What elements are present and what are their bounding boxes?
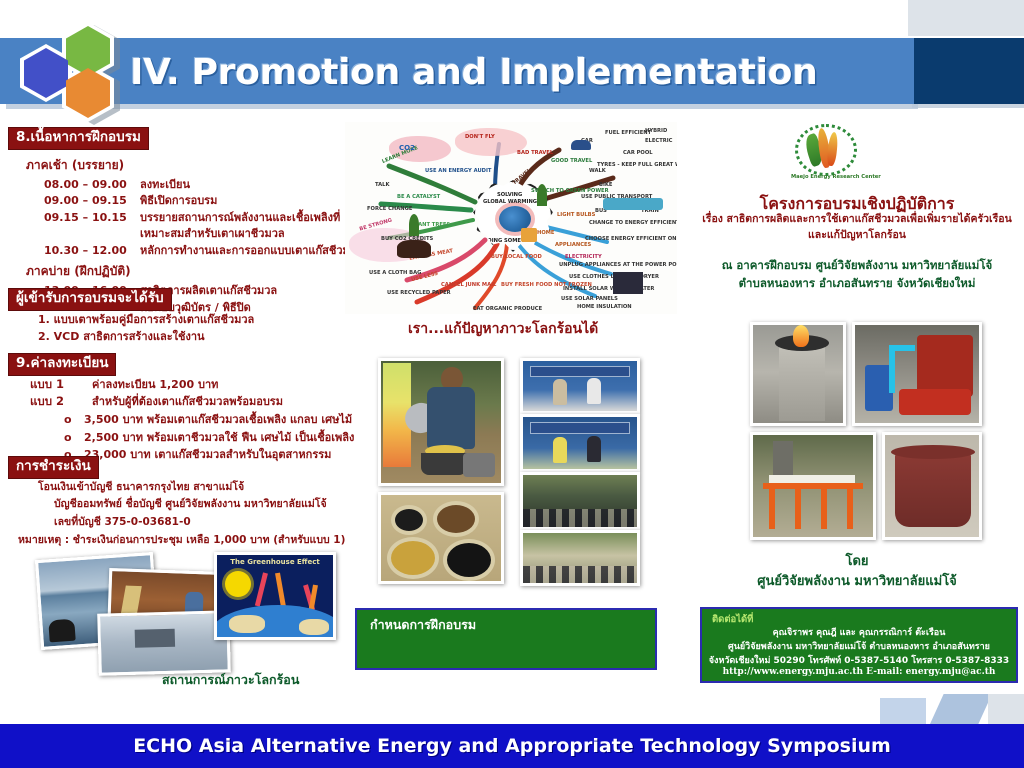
training-photo-grid (372, 356, 682, 588)
person-shirt (427, 387, 475, 449)
second-stove (463, 453, 495, 477)
fee-label: แบบ 2 (30, 393, 92, 411)
mindmap-label-hybrid: HYBRID (645, 128, 667, 134)
mindmap-branch-label: HOME (537, 230, 554, 236)
credit-by-label: โดย (690, 552, 1024, 572)
house-icon (521, 228, 537, 242)
mindmap-label-organic: EAT ORGANIC PRODUCE (473, 306, 542, 312)
mindmap-label-electric: ELECTRIC (645, 138, 672, 144)
project-subtitle-line1: เรื่อง สาธิตการผลิตและการใช้เตาแก๊สชีวมว… (690, 212, 1024, 228)
mindmap-label-electricity: ELECTRICITY (565, 254, 602, 260)
mindmap-label-talk: TALK (375, 182, 389, 188)
project-subtitle: เรื่อง สาธิตการผลิตและการใช้เตาแก๊สชีวมว… (690, 212, 1024, 244)
project-subtitle-line2: และแก้ปัญหาโลกร้อน (690, 228, 1024, 244)
receive-item: 1. แบบเตาพร้อมคู่มือการสร้างเตาแก๊สชีวมว… (38, 311, 338, 329)
mindmap-label-cloth-bag: USE A CLOTH BAG (369, 270, 421, 276)
fee-label: แบบ 1 (30, 376, 92, 394)
collage-caption: สถานการณ์ภาวะโลกร้อน (162, 670, 299, 690)
mindmap-label-light-bulbs: LIGHT BULBS (557, 212, 595, 218)
mindmap-label-buy-local: BUY LOCAL FOOD (491, 254, 542, 260)
mindmap-label-junk-mail: CANCEL JUNK MAIL (441, 282, 496, 288)
photo-workshop-demo (520, 530, 640, 586)
mindmap-center-text: SOLVING (497, 192, 522, 198)
mindmap-label-appliances: APPLIANCES (555, 242, 591, 248)
schedule-time: 08.00 – 09.00 (44, 177, 140, 194)
top-right-navy-block (912, 38, 1024, 104)
mindmap-label-choose-efficient: CHOOSE ENERGY EFFICIENT ONES (585, 236, 677, 242)
photo-biomass-gasifier-stove (750, 322, 846, 426)
schedule-row: 09.15 – 10.15 บรรยายสถานการณ์พลังงานและเ… (44, 210, 338, 243)
mindmap-label-badtravel: BAD TRAVEL (517, 150, 553, 156)
section-8-heading: 8.เนื้อหาการฝึกอบรม (8, 127, 149, 150)
schedule-desc: ลงทะเบียน (140, 177, 190, 194)
schedule-time: 09.00 – 09.15 (44, 193, 140, 210)
mindmap-label-co2: CO2 (399, 144, 415, 152)
global-warming-mindmap-image: SOLVING GLOBAL WARMING DOING SOMETHING L… (345, 122, 677, 314)
car-icon (571, 140, 591, 150)
mindmap-caption: เรา...แก้ปัญหาภาวะโลกร้อนได้ (408, 318, 598, 340)
schedule-desc: พิธีเปิดการอบรม (140, 193, 217, 210)
photo-ceremony-1 (520, 358, 640, 414)
photo-orange-stove-table (750, 432, 876, 540)
payment-line: บัญชีออมทรัพย์ ชื่อบัญชี ศูนย์วิจัยพลังง… (54, 496, 344, 514)
solar-panel-icon (613, 272, 643, 294)
red-engine (899, 389, 971, 415)
radiation-arrow-icon (275, 573, 286, 607)
sun-icon (225, 571, 251, 597)
credit-organization: ศูนย์วิจัยพลังงาน มหาวิทยาลัยแม่โจ้ (690, 572, 1024, 592)
schedule-afternoon-label: ภาคบ่าย (ฝึกปฏิบัติ) (26, 262, 338, 281)
radiation-arrow-icon (255, 572, 268, 606)
logo-caption: Maejo Energy Research Center (791, 174, 863, 180)
cow-icon (397, 240, 431, 258)
footer-deco-gray-block (988, 694, 1024, 724)
fee-bullet-row: o 2,500 บาท พร้อมเตาชีวมวลใช้ ฟืน เศษไม้… (64, 429, 338, 447)
photo-ceremony-2 (520, 414, 640, 472)
photo-audience (520, 472, 640, 530)
page-title: IV. Promotion and Implementation (130, 44, 900, 100)
mindmap-label-unplug: UNPLUG APPLIANCES AT THE POWER POINT (559, 262, 677, 268)
top-right-gray-block (908, 0, 1024, 36)
mindmap-label-energy-audit: USE AN ENERGY AUDIT (425, 168, 491, 174)
mindmap-label-buy-fresh: BUY FRESH FOOD NOT FROZEN (501, 282, 592, 288)
contact-line-names: คุณจิราพร คุณฎี และ คุณกรรณิการ์ ต๊ะเรือ… (700, 625, 1018, 639)
receive-item: 2. VCD สาธิตการสร้างและใช้งาน (38, 328, 338, 346)
mindmap-label-change-bulbs: CHANGE TO ENERGY EFFICIENT LIGHT BULBS (589, 220, 677, 226)
project-location-line2: ตำบลหนองหาร อำเภอสันทราย จังหวัดเชียงใหม… (690, 274, 1024, 292)
contact-line-address: ศูนย์วิจัยพลังงาน มหาวิทยาลัยแม่โจ้ ตำบล… (700, 639, 1018, 653)
fee-bullet-text: 3,500 บาท พร้อมเตาแก๊สชีวมวลเชื้อเพลิง แ… (84, 411, 352, 429)
payment-line: โอนเงินเข้าบัญชี ธนาคารกรุงไทย สาขาแม่โจ… (38, 479, 344, 497)
payment-line: เลขที่บัญชี 375-0-03681-0 (54, 514, 344, 532)
mindmap-label-dontfly: DON'T FLY (465, 134, 495, 140)
top-right-navy-shadow (912, 104, 1024, 108)
schedule-morning-label: ภาคเช้า (บรรยาย) (26, 156, 338, 175)
diagram-greenhouse-effect: The Greenhouse Effect (214, 552, 336, 640)
flame-icon (793, 325, 809, 347)
header-band-shadow (6, 104, 918, 109)
photo-biomass-fuel-samples (378, 492, 504, 584)
fuel-bowl-biochar (443, 539, 495, 581)
maejo-energy-logo: Maejo Energy Research Center (795, 124, 861, 186)
earth-icon (214, 605, 336, 640)
section-9-heading: 9.ค่าลงทะเบียน (8, 353, 116, 376)
tree-icon (409, 214, 419, 236)
contact-line-web-email: http://www.energy.mju.ac.th E-mail: ener… (700, 667, 1018, 677)
footer-deco-angled-shape (930, 694, 992, 724)
schedule-desc: หลักการทำงานและการออกแบบเตาแก๊สชีวมวล (140, 243, 363, 260)
photo-industrial-stove-tank (882, 432, 982, 540)
schedule-time: 10.30 – 12.00 (44, 243, 140, 260)
stage-banner (530, 422, 630, 433)
stage-banner (530, 366, 630, 377)
mindmap-label-insulation: HOME INSULATION (577, 304, 632, 310)
red-machine (917, 335, 973, 397)
mindmap-branch-label: BE A CATALYST (397, 194, 440, 200)
participants-crowd (523, 566, 637, 583)
fuel-bowl-charcoal (391, 505, 427, 535)
cyan-pipe-vertical (889, 345, 895, 393)
slide-canvas: IV. Promotion and Implementation 8.เนื้อ… (0, 0, 1024, 768)
schedule-time: 09.15 – 10.15 (44, 210, 140, 243)
mindmap-label-force-change: FORCE CHANGE (367, 206, 412, 212)
person-figure (587, 378, 601, 404)
stove-photo-grid (740, 318, 992, 546)
red-tank-body (895, 451, 971, 527)
person-figure (587, 436, 601, 462)
person-figure (553, 379, 567, 405)
photo-coastline-flood (97, 610, 231, 675)
fuel-bowl-wood-chips (433, 501, 479, 537)
mindmap-label-goodtravel: GOOD TRAVEL (551, 158, 592, 164)
contact-line-phone: จังหวัดเชียงใหม่ 50290 โทรศัพท์ 0-5387-5… (700, 653, 1018, 667)
mindmap-center-text: GLOBAL WARMING (483, 199, 537, 205)
fee-value: สำหรับผู้ที่ต้องเตาแก๊สชีวมวลพร้อมอบรม (92, 393, 283, 411)
receive-heading: ผู้เข้ารับการอบรมจะได้รับ (8, 288, 172, 311)
tree-icon-2 (537, 184, 547, 206)
project-location: ณ อาคารฝึกอบรม ศูนย์วิจัยพลังงาน มหาวิทย… (690, 256, 1024, 293)
schedule-desc: บรรยายสถานการณ์พลังงานและเชื้อเพลิงที่ เ… (140, 210, 340, 243)
fee-row: แบบ 2 สำหรับผู้ที่ต้องเตาแก๊สชีวมวลพร้อม… (30, 393, 338, 411)
payment-heading: การชำระเงิน (8, 456, 99, 479)
stove-drum (779, 341, 825, 421)
footer-title: ECHO Asia Alternative Energy and Appropr… (0, 724, 1024, 768)
hexagon-logo-cluster (10, 26, 130, 118)
fee-row: แบบ 1 ค่าลงทะเบียน 1,200 บาท (30, 376, 338, 394)
schedule-row: 09.00 – 09.15 พิธีเปิดการอบรม (44, 193, 338, 210)
tank-rim (891, 445, 975, 459)
mindmap-label-solar-panels: USE SOLAR PANELS (561, 296, 618, 302)
section-what-participants-receive: ผู้เข้ารับการอบรมจะได้รับ 1. แบบเตาพร้อม… (8, 287, 338, 346)
bullet-marker: o (64, 411, 84, 429)
mindmap-label-walk: WALK (589, 168, 606, 174)
fee-value: ค่าลงทะเบียน 1,200 บาท (92, 376, 218, 394)
fee-bullet-row: o 3,500 บาท พร้อมเตาแก๊สชีวมวลเชื้อเพลิง… (64, 411, 338, 429)
photo-trainer-with-stove (378, 358, 504, 486)
greenhouse-diagram-title: The Greenhouse Effect (217, 558, 333, 566)
fee-bullet-text: 2,500 บาท พร้อมเตาชีวมวลใช้ ฟืน เศษไม้ เ… (84, 429, 354, 447)
audience-crowd (523, 509, 637, 527)
global-warming-photo-collage: The Greenhouse Effect (18, 548, 338, 678)
schedule-row: 08.00 – 09.00 ลงทะเบียน (44, 177, 338, 194)
training-schedule-box-label: กำหนดการฝึกอบรม (370, 615, 476, 635)
person-figure (553, 437, 567, 463)
section-payment: การชำระเงิน โอนเงินเข้าบัญชี ธนาคารกรุงไ… (8, 455, 344, 550)
section-registration-fee: 9.ค่าลงทะเบียน แบบ 1 ค่าลงทะเบียน 1,200 … (8, 352, 338, 464)
table-legs (769, 485, 855, 529)
cooking-pot (421, 453, 467, 475)
mindmap-label-recycled-paper: USE RECYCLED PAPER (387, 290, 451, 296)
fuel-bowl-rice-husk (387, 537, 439, 579)
photo-workshop-machinery (852, 322, 982, 426)
train-icon (603, 198, 663, 210)
credit-caption: โดย ศูนย์วิจัยพลังงาน มหาวิทยาลัยแม่โจ้ (690, 552, 1024, 591)
project-location-line1: ณ อาคารฝึกอบรม ศูนย์วิจัยพลังงาน มหาวิทย… (690, 256, 1024, 274)
footer-deco-light-block (880, 698, 926, 724)
schedule-row: 10.30 – 12.00 หลักการทำงานและการออกแบบเต… (44, 243, 338, 260)
bullet-marker: o (64, 429, 84, 447)
mindmap-label-tyres: TYRES - KEEP FULL GREAT WEEK (597, 162, 677, 168)
mindmap-label-carpool: CAR POOL (623, 150, 653, 156)
radiation-arrow-icon (309, 585, 318, 611)
